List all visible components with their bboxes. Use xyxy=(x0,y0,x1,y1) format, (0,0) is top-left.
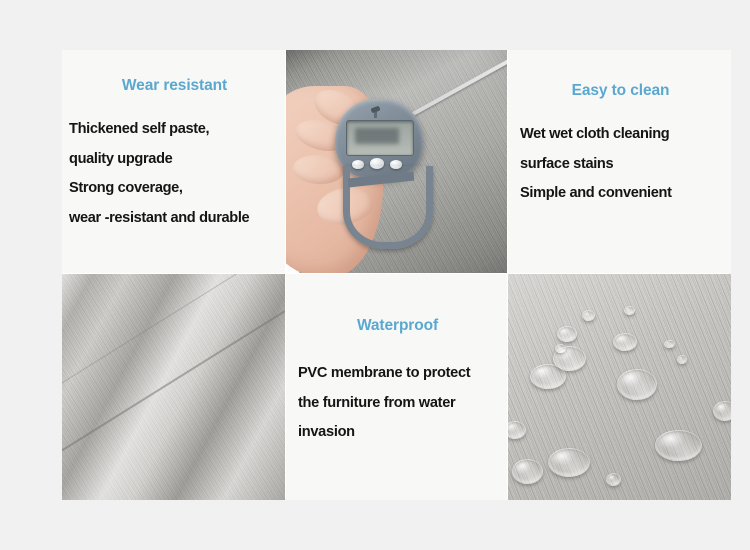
water-droplet xyxy=(555,344,566,353)
wear-resistant-line-1: Thickened self paste, xyxy=(69,115,285,145)
water-beading-photo xyxy=(508,274,731,500)
roll-shading xyxy=(62,274,285,500)
vinyl-roll-photo xyxy=(62,274,285,500)
water-droplet xyxy=(624,306,635,315)
easy-to-clean-line-3: Simple and convenient xyxy=(520,179,731,209)
easy-to-clean-line-2: surface stains xyxy=(520,150,731,180)
water-droplet xyxy=(713,401,731,421)
waterproof-line-1: PVC membrane to protect xyxy=(298,359,507,389)
wear-resistant-line-4: wear -resistant and durable xyxy=(69,204,285,234)
water-droplet xyxy=(530,364,565,389)
easy-to-clean-body: Wet wet cloth cleaning surface stains Si… xyxy=(520,120,731,209)
water-droplet xyxy=(655,430,702,461)
water-droplet xyxy=(582,310,595,321)
waterproof-body: PVC membrane to protect the furniture fr… xyxy=(298,359,507,448)
water-droplet xyxy=(613,333,637,351)
gauge-lcd-display xyxy=(346,120,413,156)
gauge-lcd-reading xyxy=(355,128,399,144)
feature-panel-wear-resistant: Wear resistant Thickened self paste, qua… xyxy=(62,50,285,273)
wear-resistant-body: Thickened self paste, quality upgrade St… xyxy=(69,115,285,233)
water-droplet xyxy=(508,421,526,439)
wear-resistant-heading: Wear resistant xyxy=(64,77,285,95)
easy-to-clean-heading: Easy to clean xyxy=(510,82,731,100)
waterproof-line-3: invasion xyxy=(298,418,507,448)
feature-panel-easy-to-clean: Easy to clean Wet wet cloth cleaning sur… xyxy=(508,50,731,273)
feature-grid: Wear resistant Thickened self paste, qua… xyxy=(62,50,729,499)
easy-to-clean-line-1: Wet wet cloth cleaning xyxy=(520,120,731,150)
feature-panel-waterproof: Waterproof PVC membrane to protect the f… xyxy=(286,274,507,500)
water-droplet xyxy=(557,326,577,342)
wear-resistant-line-2: quality upgrade xyxy=(69,145,285,175)
thickness-gauge-photo xyxy=(286,50,507,273)
waterproof-line-2: the furniture from water xyxy=(298,389,507,419)
waterproof-heading: Waterproof xyxy=(288,317,507,335)
wear-resistant-line-3: Strong coverage, xyxy=(69,174,285,204)
